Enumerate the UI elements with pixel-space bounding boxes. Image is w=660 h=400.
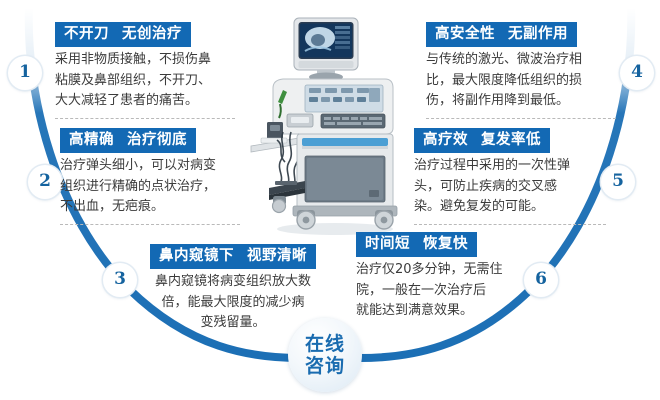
feature-block-1: 不开刀无创治疗 采用非物质接触，不损伤鼻 粘膜及鼻部组织，不开刀、 大大减轻了患… (55, 22, 235, 119)
feature-block-3: 鼻内窥镜下视野清晰 鼻内窥镜将病变组织放大数 倍，能最大限度的减少病 变残留量。 (137, 244, 329, 334)
feature-block-6: 时间短恢复快 治疗仅20多分钟，无需住 院，一般在一次治疗后 就能达到满意效果。 (356, 232, 536, 322)
cart-body (293, 134, 397, 216)
feature-title-right-3: 视野清晰 (247, 248, 307, 264)
step-number-3: 3 (114, 271, 126, 288)
step-number-5: 5 (612, 173, 624, 190)
feature-body-6: 治疗仅20多分钟，无需住 院，一般在一次治疗后 就能达到满意效果。 (356, 260, 536, 322)
step-number-1: 1 (19, 64, 31, 81)
feature-divider-1 (55, 118, 235, 119)
feature-title-bar-2: 高精确治疗彻底 (60, 128, 196, 153)
step-number-6: 6 (535, 271, 547, 288)
cta-label-line2: 咨询 (305, 355, 345, 377)
infographic-canvas: 1 2 3 4 5 6 不开刀无创治疗 采用非物质接触，不损伤鼻 粘膜及鼻部组织… (0, 0, 660, 400)
feature-title-bar-6: 时间短恢复快 (356, 232, 477, 257)
step-node-5[interactable]: 5 (601, 165, 635, 199)
keyboard (321, 114, 385, 128)
feature-title-bar-4: 高安全性无副作用 (426, 22, 577, 47)
step-node-1[interactable]: 1 (8, 56, 42, 90)
feature-title-left-5: 高疗效 (423, 132, 468, 148)
feature-divider-4 (426, 118, 616, 119)
feature-title-left-6: 时间短 (365, 236, 410, 252)
feature-title-bar-3: 鼻内窥镜下视野清晰 (150, 244, 316, 269)
accent-stripe (302, 138, 388, 146)
feature-block-2: 高精确治疗彻底 治疗弹头细小，可以对病变 组织进行精确的点状治疗， 不出血，无疤… (60, 128, 240, 225)
feature-title-bar-1: 不开刀无创治疗 (55, 22, 191, 47)
feature-divider-2 (60, 224, 240, 225)
feature-title-right-4: 无副作用 (508, 26, 568, 42)
feature-body-1: 采用非物质接触，不损伤鼻 粘膜及鼻部组织，不开刀、 大大减轻了患者的痛苦。 (55, 50, 235, 112)
feature-title-left-4: 高安全性 (435, 26, 495, 42)
step-node-2[interactable]: 2 (28, 165, 62, 199)
feature-title-right-1: 无创治疗 (122, 26, 182, 42)
feature-body-2: 治疗弹头细小，可以对病变 组织进行精确的点状治疗， 不出血，无疤痕。 (60, 156, 240, 218)
feature-title-left-1: 不开刀 (64, 26, 109, 42)
feature-title-left-2: 高精确 (69, 132, 114, 148)
feature-body-3: 鼻内窥镜将病变组织放大数 倍，能最大限度的减少病 变残留量。 (137, 272, 329, 334)
step-number-2: 2 (39, 173, 51, 190)
feature-block-4: 高安全性无副作用 与传统的激光、微波治疗相 比，最大限度降低组织的损 伤，将副作… (426, 22, 616, 119)
feature-title-right-2: 治疗彻底 (127, 132, 187, 148)
console-top (273, 79, 393, 134)
cta-label-line1: 在线 (305, 333, 345, 355)
feature-body-5: 治疗过程中采用的一次性弹 头，可防止疾病的交叉感 染。避免复发的可能。 (414, 156, 606, 218)
feature-title-left-3: 鼻内窥镜下 (159, 248, 234, 264)
online-consultation-button[interactable]: 在线 咨询 (288, 318, 362, 392)
feature-divider-5 (414, 224, 606, 225)
step-number-4: 4 (631, 64, 643, 81)
feature-title-right-5: 复发率低 (481, 132, 541, 148)
feature-body-4: 与传统的激光、微波治疗相 比，最大限度降低组织的损 伤，将副作用降到最低。 (426, 50, 616, 112)
step-node-3[interactable]: 3 (103, 263, 137, 297)
feature-block-5: 高疗效复发率低 治疗过程中采用的一次性弹 头，可防止疾病的交叉感 染。避免复发的… (414, 128, 606, 225)
feature-title-right-6: 恢复快 (423, 236, 468, 252)
feature-title-bar-5: 高疗效复发率低 (414, 128, 550, 153)
crt-monitor (294, 18, 358, 82)
medical-device-illustration (247, 10, 415, 238)
step-node-4[interactable]: 4 (620, 56, 654, 90)
monitor-screen (300, 24, 352, 58)
